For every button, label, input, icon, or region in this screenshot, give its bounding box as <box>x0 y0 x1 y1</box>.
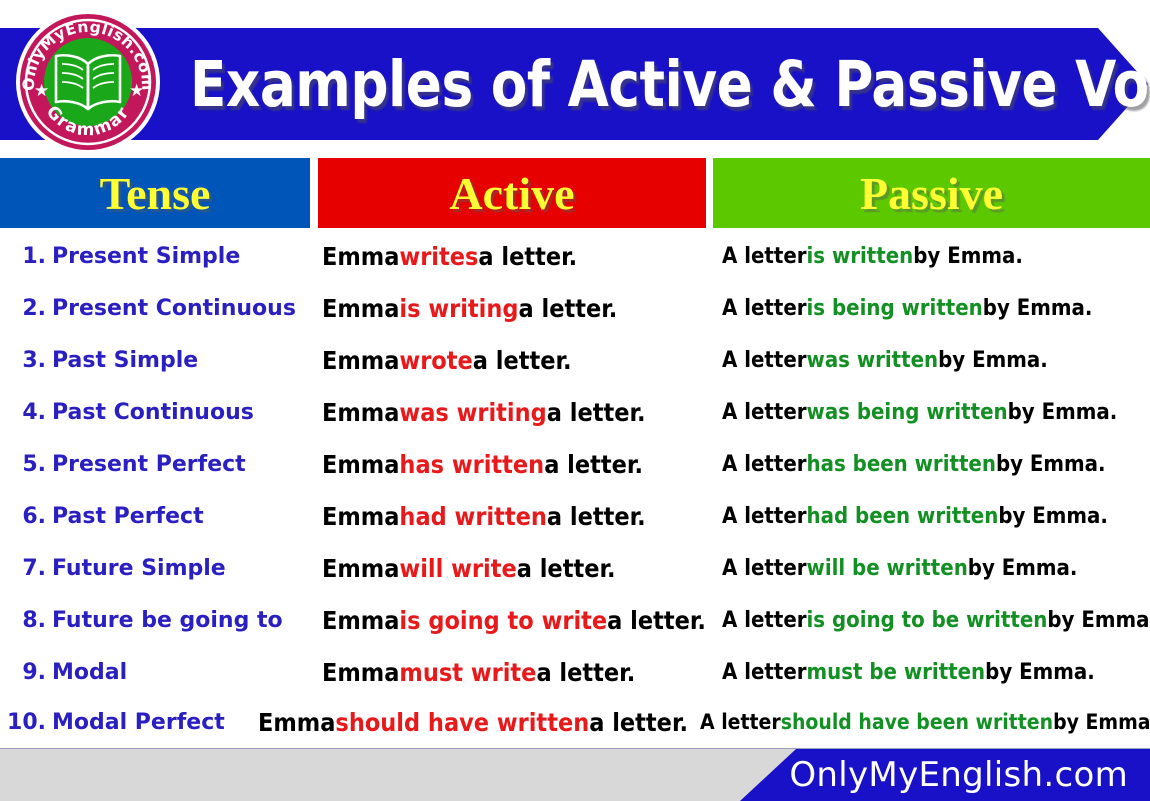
logo-svg: ★ ★ OnlyMyEnglish.com Grammar <box>12 8 164 156</box>
passive-post: by Emma. <box>985 660 1095 685</box>
cell-tense: Present Continuous <box>52 282 307 334</box>
active-verb-phrase: writes <box>399 242 478 271</box>
passive-verb-phrase: is being written <box>807 296 983 321</box>
cell-tense: Past Simple <box>52 334 307 386</box>
cell-active-sentence: Emma is going to write a letter. <box>322 594 712 646</box>
active-verb-phrase: has written <box>399 450 544 479</box>
active-pre: Emma <box>322 450 399 479</box>
passive-pre: A letter <box>722 400 807 425</box>
active-post: a letter. <box>536 658 635 687</box>
active-verb-phrase: wrote <box>399 346 472 375</box>
passive-verb-phrase: had been written <box>807 504 999 529</box>
passive-verb-phrase: is written <box>807 244 914 269</box>
active-post: a letter. <box>589 708 688 737</box>
passive-verb-phrase: should have been written <box>781 710 1053 734</box>
cell-passive-sentence: A letter must be written by Emma. <box>722 646 1150 698</box>
active-pre: Emma <box>258 708 335 737</box>
active-post: a letter. <box>517 554 616 583</box>
table-body: 1.Present SimpleEmma writes a letter.A l… <box>0 230 1150 745</box>
cell-active-sentence: Emma was writing a letter. <box>322 386 712 438</box>
passive-pre: A letter <box>722 348 807 373</box>
cell-tense: Future be going to <box>52 594 307 646</box>
row-number: 4. <box>0 386 46 438</box>
cell-active-sentence: Emma has written a letter. <box>322 438 712 490</box>
cell-passive-sentence: A letter has been written by Emma. <box>722 438 1150 490</box>
row-number: 8. <box>0 594 46 646</box>
cell-tense: Past Continuous <box>52 386 307 438</box>
page-footer: OnlyMyEnglish.com <box>0 748 1150 801</box>
passive-verb-phrase: was being written <box>807 400 1008 425</box>
row-number: 2. <box>0 282 46 334</box>
cell-active-sentence: Emma wrote a letter. <box>322 334 712 386</box>
passive-verb-phrase: is going to be written <box>807 608 1048 633</box>
cell-passive-sentence: A letter is written by Emma. <box>722 230 1150 282</box>
active-verb-phrase: had written <box>399 502 546 531</box>
passive-pre: A letter <box>722 608 807 633</box>
table-column-headers: Tense Active Passive <box>0 158 1150 228</box>
table-row: 5.Present PerfectEmma has written a lett… <box>0 438 1150 490</box>
active-pre: Emma <box>322 242 399 271</box>
table-row: 3.Past SimpleEmma wrote a letter.A lette… <box>0 334 1150 386</box>
cell-active-sentence: Emma must write a letter. <box>322 646 712 698</box>
active-post: a letter. <box>473 346 572 375</box>
table-row: 6.Past PerfectEmma had written a letter.… <box>0 490 1150 542</box>
passive-post: by Emma. <box>1053 710 1150 734</box>
page-title: Examples of Active & Passive Voice <box>190 28 1055 140</box>
row-number: 9. <box>0 646 46 698</box>
active-verb-phrase: was writing <box>399 398 546 427</box>
passive-post: by Emma. <box>1047 608 1150 633</box>
active-pre: Emma <box>322 398 399 427</box>
active-verb-phrase: must write <box>399 658 536 687</box>
active-post: a letter. <box>607 606 706 635</box>
passive-pre: A letter <box>722 556 807 581</box>
cell-passive-sentence: A letter is being written by Emma. <box>722 282 1150 334</box>
active-pre: Emma <box>322 294 399 323</box>
active-post: a letter. <box>547 502 646 531</box>
active-pre: Emma <box>322 606 399 635</box>
passive-post: by Emma. <box>1008 400 1118 425</box>
footer-site-tag: OnlyMyEnglish.com <box>740 749 1150 801</box>
cell-passive-sentence: A letter is going to be written by Emma. <box>722 594 1150 646</box>
active-pre: Emma <box>322 554 399 583</box>
column-header-passive: Passive <box>713 158 1150 228</box>
open-book-icon <box>56 55 120 109</box>
table-row: 2.Present ContinuousEmma is writing a le… <box>0 282 1150 334</box>
active-verb-phrase: should have written <box>335 708 589 737</box>
row-number: 10. <box>0 696 46 748</box>
passive-verb-phrase: has been written <box>807 452 996 477</box>
cell-tense: Past Perfect <box>52 490 307 542</box>
column-header-active: Active <box>318 158 706 228</box>
cell-passive-sentence: A letter was written by Emma. <box>722 334 1150 386</box>
active-post: a letter. <box>544 450 643 479</box>
passive-pre: A letter <box>722 296 807 321</box>
passive-post: by Emma. <box>913 244 1023 269</box>
passive-post: by Emma. <box>968 556 1078 581</box>
passive-post: by Emma. <box>996 452 1106 477</box>
cell-tense: Modal <box>52 646 307 698</box>
site-logo-badge: ★ ★ OnlyMyEnglish.com Grammar <box>12 8 164 156</box>
page-header: Examples of Active & Passive Voice <box>0 0 1150 150</box>
row-number: 7. <box>0 542 46 594</box>
cell-active-sentence: Emma will write a letter. <box>322 542 712 594</box>
table-row: 10.Modal PerfectEmma should have written… <box>0 696 1150 748</box>
active-post: a letter. <box>478 242 577 271</box>
table-row: 9.ModalEmma must write a letter.A letter… <box>0 646 1150 698</box>
passive-verb-phrase: must be written <box>807 660 986 685</box>
passive-pre: A letter <box>722 452 807 477</box>
active-post: a letter. <box>519 294 618 323</box>
cell-active-sentence: Emma is writing a letter. <box>322 282 712 334</box>
cell-active-sentence: Emma should have written a letter. <box>258 696 718 748</box>
passive-pre: A letter <box>722 504 807 529</box>
passive-verb-phrase: was written <box>807 348 939 373</box>
active-verb-phrase: will write <box>399 554 516 583</box>
active-pre: Emma <box>322 346 399 375</box>
cell-passive-sentence: A letter had been written by Emma. <box>722 490 1150 542</box>
cell-tense: Future Simple <box>52 542 307 594</box>
table-row: 1.Present SimpleEmma writes a letter.A l… <box>0 230 1150 282</box>
passive-pre: A letter <box>722 244 807 269</box>
cell-active-sentence: Emma had written a letter. <box>322 490 712 542</box>
passive-verb-phrase: will be written <box>807 556 968 581</box>
table-row: 8.Future be going toEmma is going to wri… <box>0 594 1150 646</box>
cell-passive-sentence: A letter will be written by Emma. <box>722 542 1150 594</box>
table-row: 7.Future SimpleEmma will write a letter.… <box>0 542 1150 594</box>
row-number: 1. <box>0 230 46 282</box>
active-verb-phrase: is writing <box>399 294 518 323</box>
table-row: 4.Past ContinuousEmma was writing a lett… <box>0 386 1150 438</box>
passive-post: by Emma. <box>983 296 1093 321</box>
cell-tense: Present Simple <box>52 230 307 282</box>
passive-pre: A letter <box>722 660 807 685</box>
row-number: 3. <box>0 334 46 386</box>
cell-passive-sentence: A letter was being written by Emma. <box>722 386 1150 438</box>
active-pre: Emma <box>322 658 399 687</box>
cell-active-sentence: Emma writes a letter. <box>322 230 712 282</box>
passive-post: by Emma. <box>998 504 1108 529</box>
passive-post: by Emma. <box>938 348 1048 373</box>
active-pre: Emma <box>322 502 399 531</box>
active-verb-phrase: is going to write <box>399 606 607 635</box>
cell-tense: Present Perfect <box>52 438 307 490</box>
row-number: 5. <box>0 438 46 490</box>
cell-passive-sentence: A letter should have been written by Emm… <box>700 696 1150 748</box>
active-post: a letter. <box>547 398 646 427</box>
passive-pre: A letter <box>700 710 781 734</box>
row-number: 6. <box>0 490 46 542</box>
column-header-tense: Tense <box>0 158 310 228</box>
